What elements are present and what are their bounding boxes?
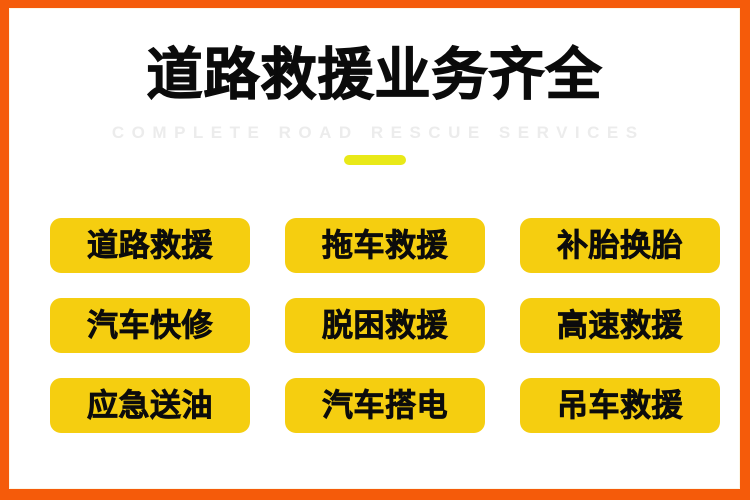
service-button-label: 应急送油 [87, 389, 213, 423]
service-button-tire-repair-replace[interactable]: 补胎换胎 [520, 218, 720, 273]
poster-frame: 道路救援业务齐全 COMPLETE ROAD RESCUE SERVICES 道… [0, 0, 750, 500]
service-button-tow-rescue[interactable]: 拖车救援 [285, 218, 485, 273]
service-button-grid: 道路救援 拖车救援 补胎换胎 汽车快修 脱困救援 高速救援 应急送油 汽车搭电 [50, 218, 720, 433]
service-button-label: 道路救援 [87, 229, 213, 263]
accent-bar [344, 155, 406, 165]
service-button-emergency-fuel[interactable]: 应急送油 [50, 378, 250, 433]
service-button-extrication-rescue[interactable]: 脱困救援 [285, 298, 485, 353]
poster-card: 道路救援业务齐全 COMPLETE ROAD RESCUE SERVICES 道… [9, 8, 740, 489]
service-button-label: 补胎换胎 [557, 229, 683, 263]
service-button-label: 吊车救援 [557, 389, 683, 423]
page-subtitle: COMPLETE ROAD RESCUE SERVICES [10, 122, 739, 144]
service-button-crane-rescue[interactable]: 吊车救援 [520, 378, 720, 433]
service-button-road-rescue[interactable]: 道路救援 [50, 218, 250, 273]
service-button-label: 脱困救援 [322, 309, 448, 343]
service-button-label: 汽车快修 [87, 309, 213, 343]
page-title: 道路救援业务齐全 [10, 43, 739, 107]
service-button-label: 高速救援 [557, 309, 683, 343]
service-button-highway-rescue[interactable]: 高速救援 [520, 298, 720, 353]
service-button-label: 汽车搭电 [322, 389, 448, 423]
service-button-jump-start[interactable]: 汽车搭电 [285, 378, 485, 433]
header-block: 道路救援业务齐全 COMPLETE ROAD RESCUE SERVICES [10, 9, 739, 177]
service-button-label: 拖车救援 [322, 229, 448, 263]
service-button-quick-car-repair[interactable]: 汽车快修 [50, 298, 250, 353]
